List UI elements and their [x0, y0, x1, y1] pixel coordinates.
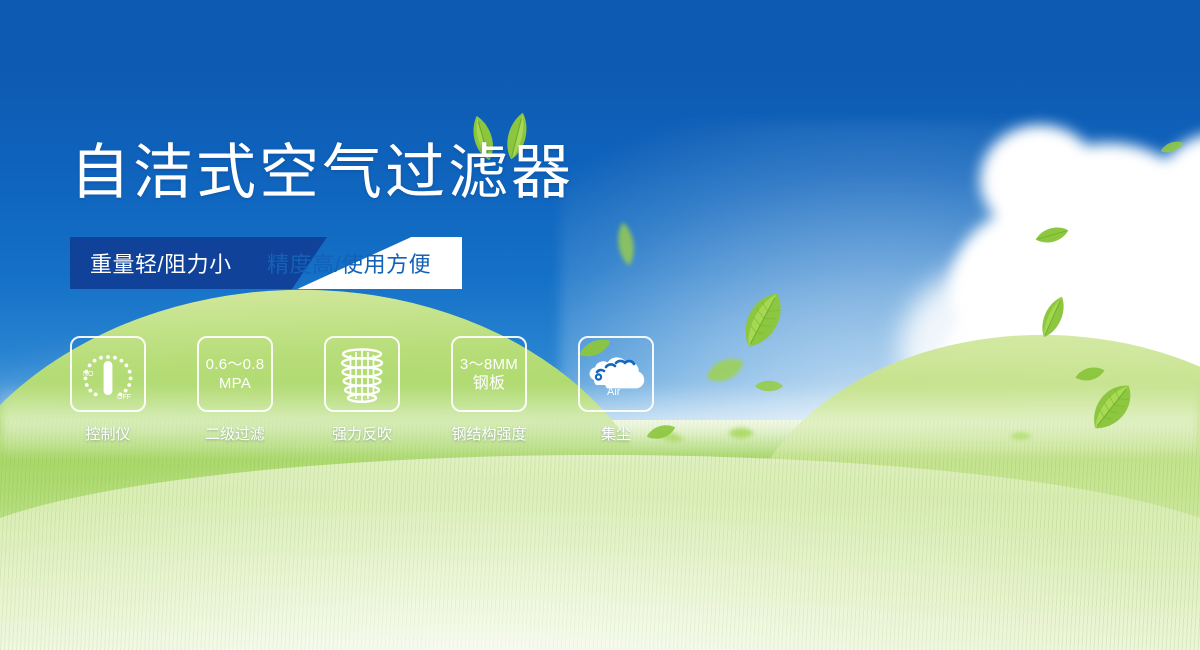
feature-item-secondary-filter[interactable]: 0.6～0.8 MPA 二级过滤 [197, 336, 273, 444]
steel-thickness-text: 3～8MM [460, 355, 518, 374]
feature-icon-box-steel: 3～8MM 钢板 [451, 336, 527, 412]
floating-leaf-2 [740, 290, 786, 350]
feature-item-controller[interactable]: NO OFF 控制仪 [70, 336, 146, 444]
air-cloud-icon: Air [585, 352, 647, 396]
gauge-icon: NO OFF [77, 345, 139, 403]
page-title: 自洁式空气过滤器 [70, 143, 574, 203]
floating-leaf-1 [615, 222, 637, 266]
feature-icon-box-controller: NO OFF [70, 336, 146, 412]
floating-leaf-6 [1035, 225, 1069, 245]
steel-plate-text: 钢板 [473, 374, 506, 393]
floating-leaf-7 [1040, 295, 1066, 339]
feature-icon-box-air: Air [578, 336, 654, 412]
feature-icon-box-pressure: 0.6～0.8 MPA [197, 336, 273, 412]
floating-leaf-9 [1090, 380, 1134, 434]
air-label: Air [607, 386, 621, 396]
floating-leaf-10 [1160, 140, 1184, 154]
feature-label-controller: 控制仪 [85, 423, 130, 444]
feature-item-backblow[interactable]: 强力反吹 [324, 336, 400, 444]
pressure-unit-text: MPA [219, 374, 251, 393]
feature-label-steel-strength: 钢结构强度 [451, 423, 526, 444]
feature-item-steel-strength[interactable]: 3～8MM 钢板 钢结构强度 [451, 336, 527, 444]
floating-leaf-5 [728, 425, 754, 441]
feature-list: NO OFF 控制仪 0.6～0.8 MPA 二级过滤 [70, 336, 654, 444]
feature-item-dust-collection[interactable]: Air 集尘 [578, 336, 654, 444]
floating-leaf-3 [705, 355, 745, 385]
floating-leaf-4 [755, 378, 783, 394]
gauge-off-label: OFF [117, 394, 131, 401]
gauge-on-label: NO [83, 371, 94, 378]
feature-label-secondary-filter: 二级过滤 [205, 423, 265, 444]
pressure-range-text: 0.6～0.8 [206, 355, 265, 374]
grass-sheen [0, 450, 1200, 650]
product-banner: 自洁式空气过滤器 重量轻/阻力小 精度高/使用方便 [0, 0, 1200, 650]
subtitle-left-text: 重量轻/阻力小 [90, 237, 232, 289]
feature-label-backblow: 强力反吹 [332, 423, 392, 444]
subtitle-band: 重量轻/阻力小 精度高/使用方便 [70, 237, 462, 289]
floating-leaf-11 [1010, 430, 1032, 442]
subtitle-right-text: 精度高/使用方便 [267, 237, 431, 289]
feature-icon-box-coil [324, 336, 400, 412]
coil-filter-icon [334, 345, 390, 403]
feature-label-dust-collection: 集尘 [601, 423, 631, 444]
